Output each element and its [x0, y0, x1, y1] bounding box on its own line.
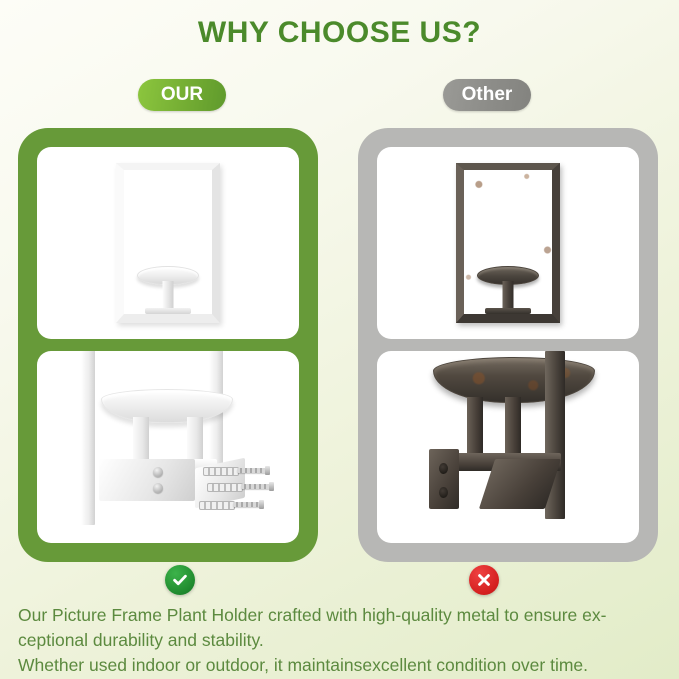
mounting-hole-upper-icon [439, 463, 448, 474]
comparison-panel-other [358, 128, 658, 562]
frame-base-rust-icon [485, 308, 531, 314]
wall-anchor-1-icon [203, 467, 239, 476]
check-circle-icon [171, 571, 189, 589]
caption-line-3: Whether used indoor or outdoor, it maint… [18, 653, 666, 678]
screw-head-1-icon [265, 466, 270, 475]
screw-head-3-icon [259, 500, 264, 509]
comparison-panel-our [18, 128, 318, 562]
caption-line-1: Our Picture Frame Plant Holder crafted w… [18, 603, 666, 628]
frame-illustration-rust [377, 147, 639, 339]
caption-line-2: ceptional durability and stability. [18, 628, 666, 653]
bowl-leg-mid-rust-icon [505, 397, 521, 459]
frame-post-left-white-icon [81, 351, 95, 525]
frame-base-white-icon [145, 308, 191, 314]
product-photo-our-frame [37, 147, 299, 339]
bolt-cap-upper-icon [153, 467, 163, 477]
product-photo-other-bracket [377, 351, 639, 543]
bracket-illustration-rust [377, 351, 639, 543]
wall-anchor-2-icon [207, 483, 243, 492]
screw-head-2-icon [269, 482, 274, 491]
badge-our: OUR [138, 79, 226, 111]
screw-2-icon [241, 484, 271, 489]
tray-stem-white-icon [163, 281, 174, 309]
caption-block: Our Picture Frame Plant Holder crafted w… [18, 603, 666, 678]
frame-illustration-white [37, 147, 299, 339]
bowl-leg-left-white-icon [133, 417, 149, 463]
mounting-hole-lower-icon [439, 487, 448, 498]
cross-circle-icon [475, 571, 493, 589]
wall-anchor-3-icon [199, 501, 235, 510]
bracket-illustration-white [37, 351, 299, 543]
bowl-leg-right-white-icon [187, 417, 203, 463]
tray-stem-rust-icon [503, 281, 514, 309]
bolt-cap-lower-icon [153, 483, 163, 493]
screw-3-icon [233, 502, 261, 507]
product-photo-other-frame [377, 147, 639, 339]
product-photo-our-bracket [37, 351, 299, 543]
screw-1-icon [237, 468, 267, 473]
verdict-check-our [165, 565, 195, 595]
wall-plate-rust-icon [429, 449, 459, 509]
verdict-cross-other [469, 565, 499, 595]
wall-plate-white-icon [99, 459, 195, 501]
badge-other: Other [443, 79, 531, 111]
page-title: WHY CHOOSE US? [0, 16, 679, 50]
bowl-leg-left-rust-icon [467, 397, 483, 459]
